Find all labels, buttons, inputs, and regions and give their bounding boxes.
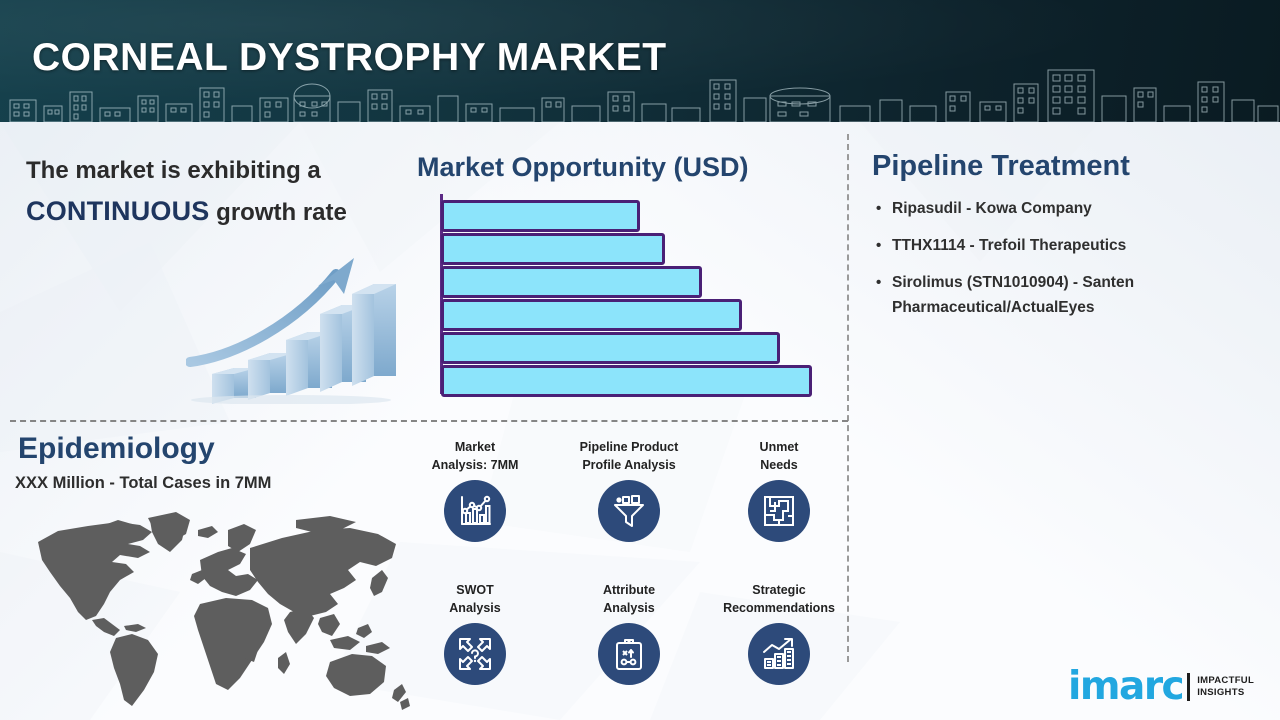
pipeline-item-label: Sirolimus (STN1010904) - Santen Pharmace… — [892, 270, 1266, 320]
logo-divider — [1187, 673, 1190, 701]
chart-bar — [441, 299, 742, 331]
bullet-icon: • — [876, 270, 892, 295]
bullet-icon: • — [876, 233, 892, 258]
intro-highlight: CONTINUOUS — [26, 196, 210, 226]
chart-bar — [441, 365, 812, 397]
growth-bar-arrow-icon — [186, 252, 400, 404]
icon-label: Pipeline Product Profile Analysis — [554, 438, 704, 474]
page-header: CORNEAL DYSTROPHY MARKET — [0, 0, 1280, 122]
pipeline-list: • Ripasudil - Kowa Company • TTHX1114 - … — [876, 196, 1266, 332]
page-title: CORNEAL DYSTROPHY MARKET — [32, 36, 667, 80]
logo-tagline-line2: INSIGHTS — [1197, 687, 1254, 699]
grid-item-pipeline-product-profile[interactable]: Pipeline Product Profile Analysis — [554, 438, 704, 542]
grid-item-unmet-needs[interactable]: Unmet Needs — [704, 438, 854, 542]
market-opportunity-chart — [430, 190, 830, 400]
list-item: • Sirolimus (STN1010904) - Santen Pharma… — [876, 270, 1266, 320]
imarc-logo: imarc IMPACTFUL INSIGHTS — [1068, 664, 1258, 710]
grid-item-attribute-analysis[interactable]: Attribute Analysis — [554, 581, 704, 685]
icon-label: Strategic Recommendations — [704, 581, 854, 617]
analytics-chart-icon — [444, 480, 506, 542]
pipeline-item-label: Ripasudil - Kowa Company — [892, 196, 1092, 221]
intro-line1: The market is exhibiting a — [26, 157, 321, 184]
list-item: • TTHX1114 - Trefoil Therapeutics — [876, 233, 1266, 258]
logo-wordmark: imarc — [1068, 669, 1183, 705]
icon-label: Market Analysis: 7MM — [400, 438, 550, 474]
page-body: The market is exhibiting a CONTINUOUS gr… — [0, 122, 1280, 720]
pipeline-title: Pipeline Treatment — [872, 150, 1130, 183]
grid-item-market-analysis[interactable]: Market Analysis: 7MM — [400, 438, 550, 542]
chart-bar — [441, 233, 665, 265]
icon-label: Unmet Needs — [704, 438, 854, 474]
pipeline-item-label: TTHX1114 - Trefoil Therapeutics — [892, 233, 1126, 258]
epidemiology-title: Epidemiology — [18, 432, 215, 466]
clipboard-strategy-icon — [598, 623, 660, 685]
funnel-icon — [598, 480, 660, 542]
list-item: • Ripasudil - Kowa Company — [876, 196, 1266, 221]
chart-bar — [441, 332, 780, 364]
chart-bar — [441, 200, 640, 232]
grid-item-swot-analysis[interactable]: SWOT Analysis — [400, 581, 550, 685]
logo-tagline-line1: IMPACTFUL — [1197, 675, 1254, 687]
maze-icon — [748, 480, 810, 542]
growth-bars-arrow-icon — [748, 623, 810, 685]
bullet-icon: • — [876, 196, 892, 221]
intro-line2: growth rate — [210, 199, 347, 226]
horizontal-divider — [10, 420, 848, 422]
world-map-icon — [0, 500, 420, 716]
analysis-icon-grid: Market Analysis: 7MM Pipeline Product Pr… — [415, 438, 845, 688]
chart-title: Market Opportunity (USD) — [417, 152, 749, 183]
grid-item-strategic-recommendations[interactable]: Strategic Recommendations — [704, 581, 854, 685]
intro-statement: The market is exhibiting a CONTINUOUS gr… — [26, 150, 396, 233]
swot-arrows-question-icon — [444, 623, 506, 685]
icon-label: SWOT Analysis — [400, 581, 550, 617]
icon-label: Attribute Analysis — [554, 581, 704, 617]
epidemiology-subtitle: XXX Million - Total Cases in 7MM — [15, 474, 271, 493]
chart-bar — [441, 266, 702, 298]
